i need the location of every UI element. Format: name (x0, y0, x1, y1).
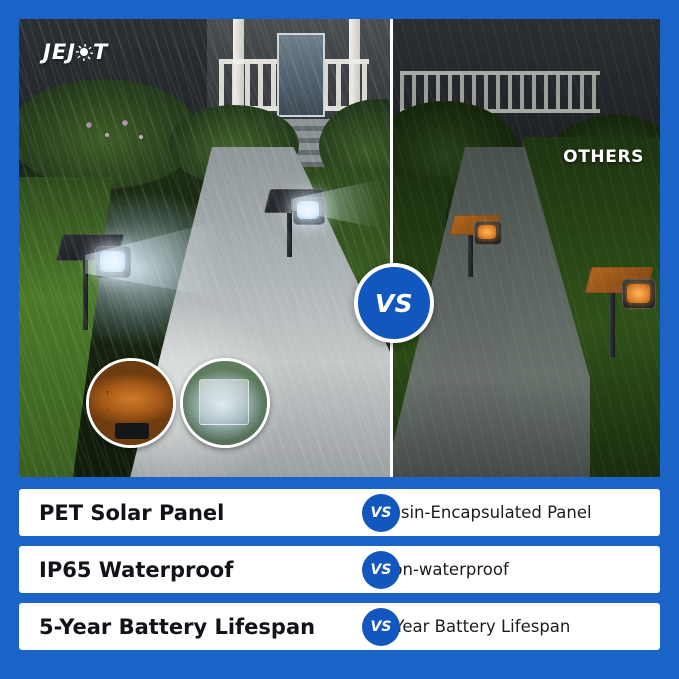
row-jejot-feature: PET Solar Panel (19, 501, 341, 525)
rain-overlay (390, 19, 660, 477)
vs-badge-row: VS (362, 551, 400, 589)
vs-badge-row: VS (362, 494, 400, 532)
vs-badge-row: VS (362, 608, 400, 646)
vs-badge-main: VS (354, 263, 434, 343)
fogged-panel (199, 379, 249, 425)
scene-divider (390, 19, 393, 477)
row-jejot-feature: IP65 Waterproof (19, 558, 341, 582)
inset-water-damage (180, 358, 270, 448)
inset-cracked-panel (86, 358, 176, 448)
brand-text-after: T (93, 40, 108, 64)
sun-icon (76, 44, 93, 61)
others-label: OTHERS (563, 147, 644, 167)
panel-mount (115, 423, 149, 439)
table-row: PET Solar Panel VS Resin-Encapsulated Pa… (19, 489, 660, 536)
brand-text-before: JEJ (43, 40, 76, 64)
crack-lines (107, 391, 159, 411)
comparison-photo: OTHERS (19, 19, 660, 477)
product-infographic: ROBUST & DURABLE CONSTRUCTION (0, 0, 679, 679)
table-row: IP65 Waterproof VS Non-waterproof (19, 546, 660, 593)
brand-logo: JEJT (43, 40, 108, 64)
right-scene-others: OTHERS (390, 19, 660, 477)
table-row: 5-Year Battery Lifespan VS 1-Year Batter… (19, 603, 660, 650)
row-jejot-feature: 5-Year Battery Lifespan (19, 615, 341, 639)
comparison-table: PET Solar Panel VS Resin-Encapsulated Pa… (19, 489, 660, 660)
